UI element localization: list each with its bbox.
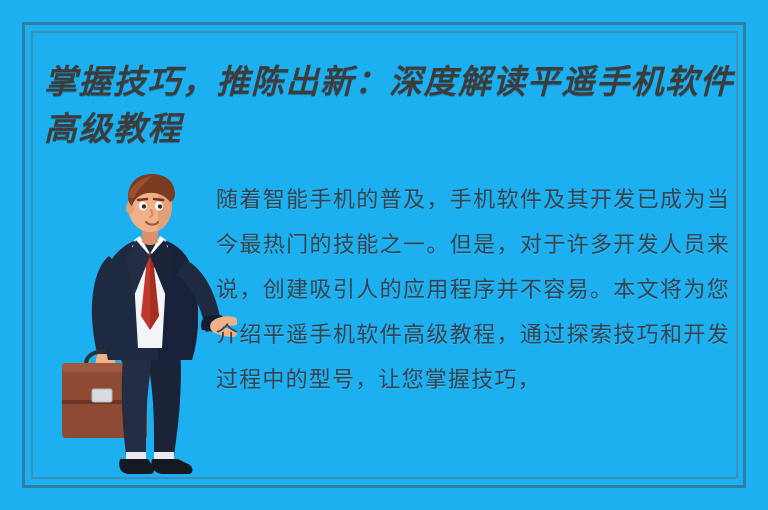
ear xyxy=(126,202,134,214)
page-title: 掌握技巧，推陈出新：深度解读平遥手机软件高级教程 xyxy=(44,58,734,152)
right-sock xyxy=(154,452,174,460)
businessman-illustration xyxy=(62,168,237,480)
pupil-left xyxy=(142,204,146,208)
trousers-shadow xyxy=(150,346,181,456)
poster-canvas: 掌握技巧，推陈出新：深度解读平遥手机软件高级教程 随着智能手机的普及，手机软件及… xyxy=(0,0,768,510)
eyebrow-left xyxy=(138,199,147,200)
eyebrow-right xyxy=(154,199,163,200)
left-shoe xyxy=(119,459,154,474)
briefcase-clasp xyxy=(92,389,112,402)
right-shoe xyxy=(151,459,192,474)
left-sock xyxy=(126,452,146,460)
pupil-right xyxy=(158,204,162,208)
article-body-paragraph: 随着智能手机的普及，手机软件及其开发已成为当今最热门的技能之一。但是，对于许多开… xyxy=(216,178,730,403)
